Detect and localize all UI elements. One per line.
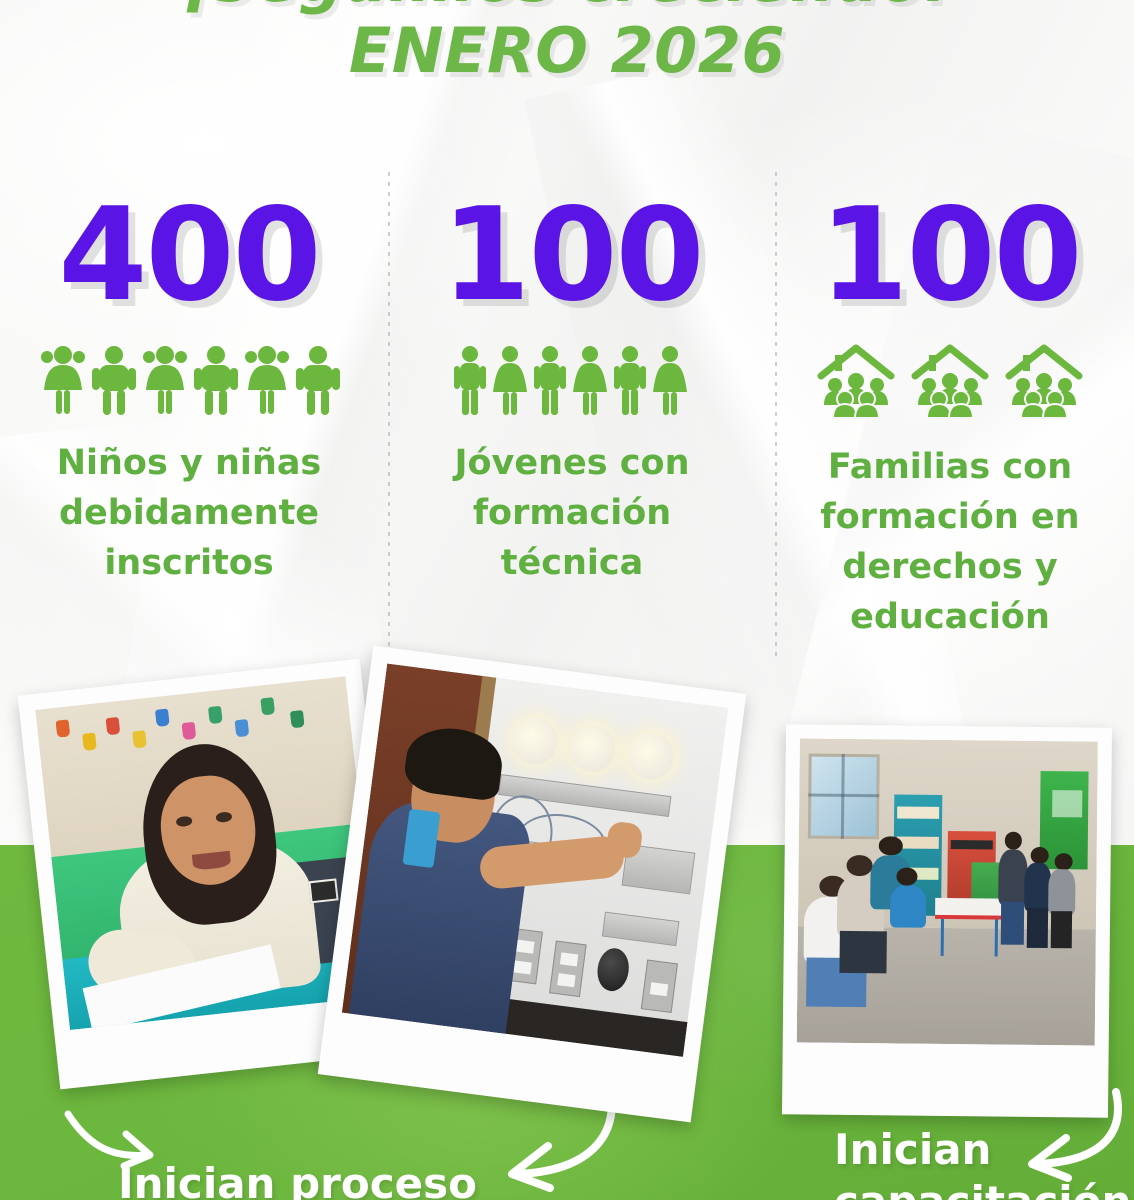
woman-icon — [649, 344, 691, 416]
boy-icon — [295, 344, 341, 416]
photo-family-workshop — [782, 724, 1112, 1117]
photo-image — [342, 664, 728, 1057]
stat-caption: Familias con formación en derechos y edu… — [766, 442, 1134, 642]
stat-number: 400 — [0, 196, 378, 316]
man-icon — [533, 344, 567, 416]
header-month-line: ENERO 2026 — [0, 18, 1134, 84]
stat-block-children: 400 — [0, 196, 378, 642]
family-under-roof-icon — [817, 342, 895, 420]
photo-image — [35, 676, 380, 1030]
poster-header: ¡Seguimos creciendo! ENERO 2026 — [0, 0, 1134, 108]
family-house-icon — [766, 342, 1134, 420]
infographic-poster: ¡Seguimos creciendo! ENERO 2026 400 — [0, 0, 1134, 1200]
adults-group-icon — [378, 342, 766, 416]
band-caption-left: Inician proceso — [118, 1158, 477, 1200]
family-under-roof-icon — [1005, 342, 1083, 420]
stats-row: 400 — [0, 196, 1134, 642]
family-under-roof-icon — [911, 342, 989, 420]
woman-icon — [489, 344, 531, 416]
band-caption-right: Inician capacitación — [834, 1124, 1131, 1200]
man-icon — [453, 344, 487, 416]
girl-icon — [241, 344, 293, 416]
children-group-icon — [0, 342, 378, 416]
boy-icon — [193, 344, 239, 416]
stat-block-families: 100 — [766, 196, 1134, 642]
boy-icon — [91, 344, 137, 416]
stat-caption: Jóvenes con formación técnica — [378, 438, 766, 588]
girl-icon — [37, 344, 89, 416]
man-icon — [613, 344, 647, 416]
photo-image — [797, 738, 1098, 1045]
stat-block-youth: 100 — [378, 196, 766, 642]
photo-youth-electrical-panel — [318, 646, 747, 1123]
stat-number: 100 — [766, 196, 1134, 316]
girl-icon — [139, 344, 191, 416]
woman-icon — [569, 344, 611, 416]
stat-caption: Niños y niñas debidamente inscritos — [0, 438, 378, 588]
stat-number: 100 — [378, 196, 766, 316]
header-title-line: ¡Seguimos creciendo! — [0, 0, 1134, 12]
